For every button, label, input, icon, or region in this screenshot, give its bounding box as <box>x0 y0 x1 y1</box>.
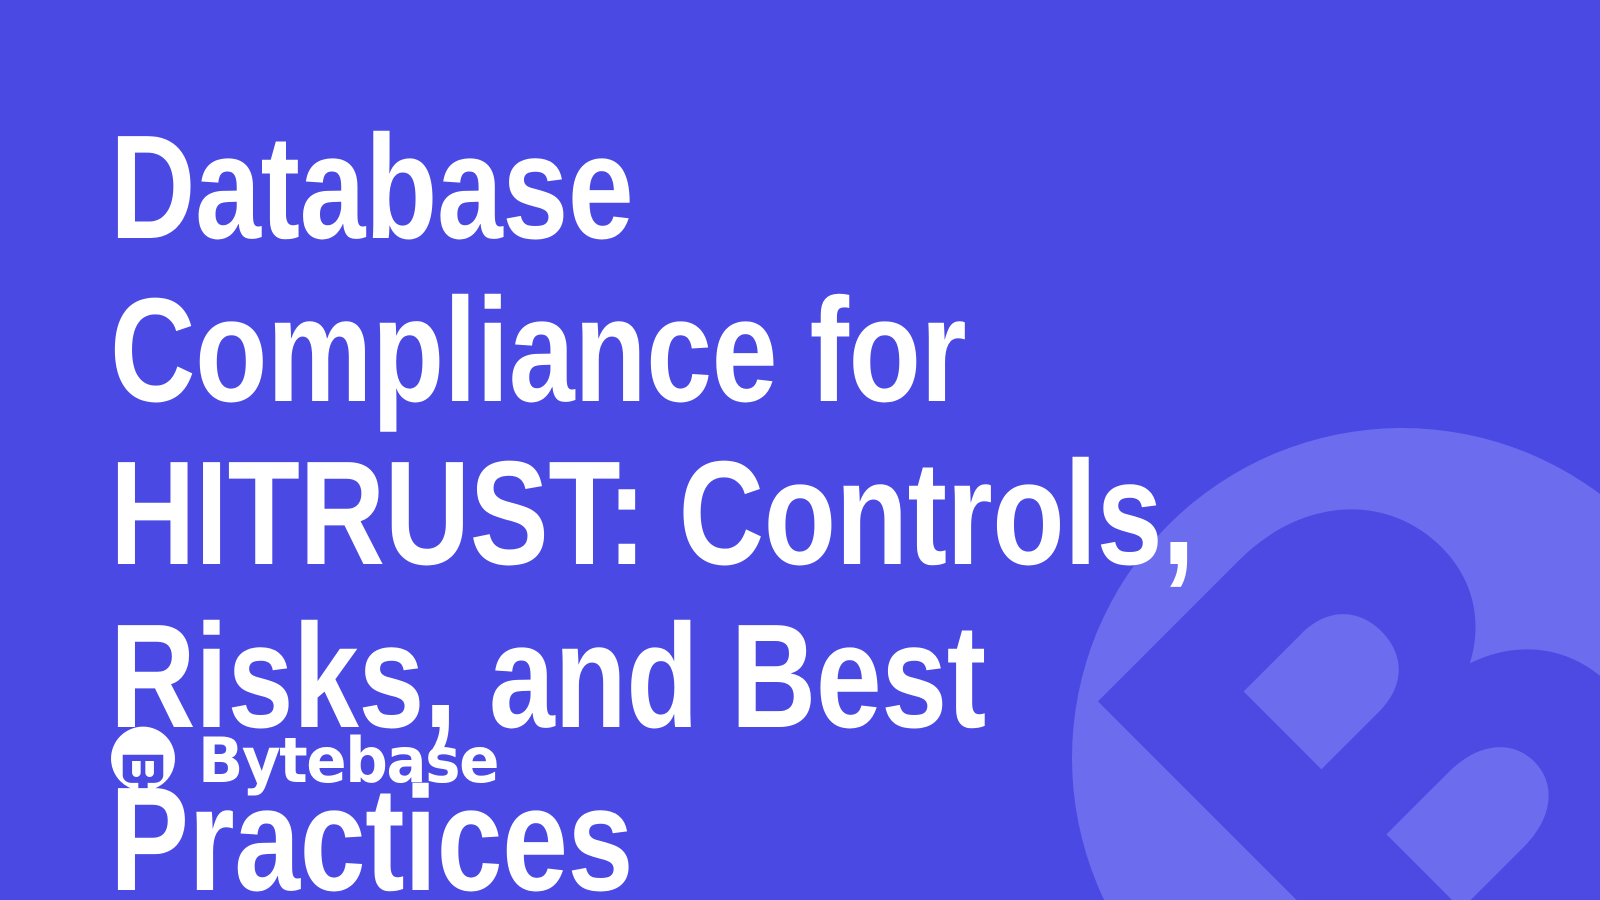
bytebase-wordmark: Bytebase <box>198 728 498 794</box>
bytebase-logo-lockup: Bytebase <box>104 722 511 800</box>
social-card-canvas: Database Compliance for HITRUST: Control… <box>0 0 1600 900</box>
bytebase-logo-icon <box>104 722 182 800</box>
